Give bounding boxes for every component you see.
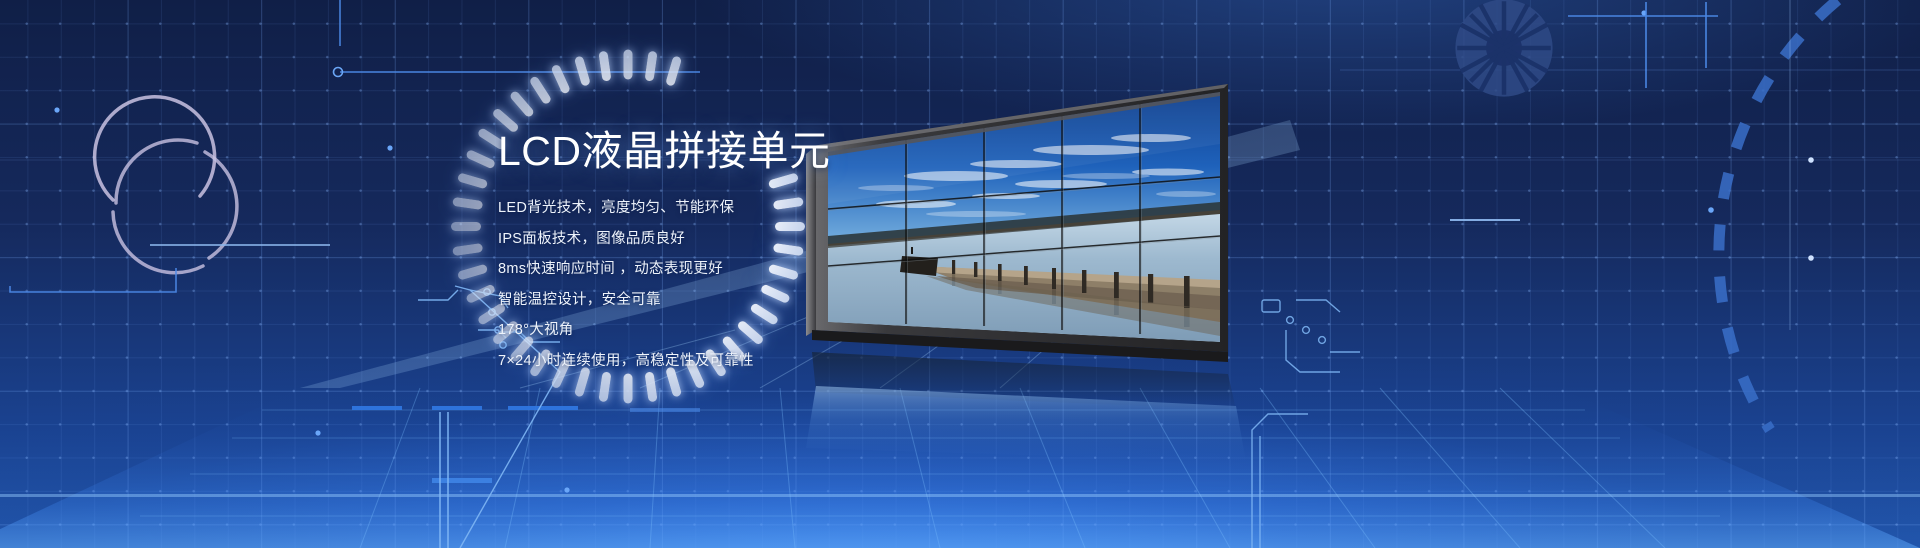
ring-tick [509, 89, 535, 118]
ring-tick [644, 371, 657, 402]
page-title: LCD液晶拼接单元 [498, 131, 1058, 172]
ring-tick [457, 263, 488, 280]
list-item: IPS面板技术，图像品质良好 [498, 232, 1058, 247]
list-item: 178°大视角 [498, 323, 1058, 338]
ring-tick [624, 373, 633, 403]
ring-tick [529, 75, 553, 105]
ring-tick [624, 49, 633, 79]
lavender-arc-left [95, 97, 215, 200]
ring-tick [665, 366, 682, 397]
ring-tick [451, 222, 481, 231]
ring-tick [665, 55, 682, 86]
ring-tick [598, 50, 611, 81]
ring-tick [644, 50, 657, 81]
ring-tick [457, 172, 488, 189]
ring-tick [465, 283, 496, 304]
ring-tick [452, 242, 483, 255]
ring-tick [465, 148, 496, 169]
list-item: 8ms快速响应时间 ，动态表现更好 [498, 262, 1058, 277]
ring-tick [550, 63, 571, 94]
product-banner: LCD液晶拼接单元 LED背光技术，亮度均匀、节能环保 IPS面板技术，图像品质… [0, 0, 1920, 548]
dashed-arc-right [1719, 0, 1880, 430]
list-item: LED背光技术，亮度均匀、节能环保 [498, 201, 1058, 216]
ring-tick [452, 196, 483, 209]
feature-list: LED背光技术，亮度均匀、节能环保 IPS面板技术，图像品质良好 8ms快速响应… [498, 201, 1058, 368]
list-item: 7×24小时连续使用，高稳定性及可靠性 [498, 354, 1058, 369]
copy-block: LCD液晶拼接单元 LED背光技术，亮度均匀、节能环保 IPS面板技术，图像品质… [498, 131, 1058, 368]
ring-tick [574, 55, 591, 86]
ring-tick [598, 371, 611, 402]
ring-tick [574, 366, 591, 397]
list-item: 智能温控设计，安全可靠 [498, 293, 1058, 308]
gear-icon [1450, 0, 1558, 98]
